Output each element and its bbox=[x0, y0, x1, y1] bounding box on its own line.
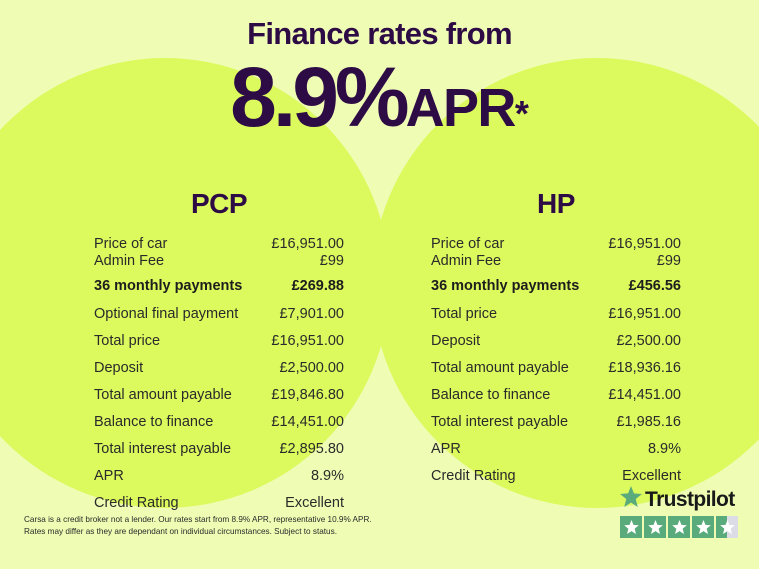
star-icon bbox=[668, 516, 690, 538]
table-row: Admin Fee £99 bbox=[431, 253, 681, 269]
table-row: Balance to finance £14,451.00 bbox=[431, 387, 681, 403]
headline-rate-value: 8.9% bbox=[230, 50, 405, 144]
star-icon bbox=[620, 486, 642, 512]
row-label: Admin Fee bbox=[431, 253, 501, 269]
star-half-icon bbox=[716, 516, 738, 538]
table-row: Price of car £16,951.00 bbox=[431, 236, 681, 252]
table-row: Price of car £16,951.00 bbox=[94, 236, 344, 252]
row-label: Credit Rating bbox=[431, 468, 516, 484]
trustpilot-stars bbox=[620, 516, 744, 538]
table-row: Total amount payable £19,846.80 bbox=[94, 387, 344, 403]
row-value: 8.9% bbox=[311, 468, 344, 484]
row-value: £16,951.00 bbox=[271, 333, 344, 349]
row-value: Excellent bbox=[622, 468, 681, 484]
row-value: Excellent bbox=[285, 495, 344, 511]
trustpilot-wordmark: Trustpilot bbox=[620, 487, 744, 511]
row-label: Price of car bbox=[431, 236, 504, 252]
row-value: £16,951.00 bbox=[608, 306, 681, 322]
row-label: APR bbox=[431, 441, 461, 457]
row-label: Balance to finance bbox=[94, 414, 213, 430]
table-row: Optional final payment £7,901.00 bbox=[94, 306, 344, 322]
row-label: Admin Fee bbox=[94, 253, 164, 269]
table-row: Deposit £2,500.00 bbox=[94, 360, 344, 376]
table-row: APR 8.9% bbox=[94, 468, 344, 484]
table-row: Credit Rating Excellent bbox=[431, 468, 681, 484]
row-label: APR bbox=[94, 468, 124, 484]
row-value: £14,451.00 bbox=[608, 387, 681, 403]
star-icon bbox=[620, 516, 642, 538]
headline-apr-label: APR bbox=[406, 78, 515, 138]
row-value: £2,895.80 bbox=[279, 441, 344, 457]
table-row: APR 8.9% bbox=[431, 441, 681, 457]
disclaimer-line-2: Rates may differ as they are dependant o… bbox=[24, 526, 424, 538]
row-label: 36 monthly payments bbox=[431, 278, 579, 294]
headline-block: Finance rates from 8.9%APR* bbox=[0, 18, 759, 139]
plan-rows-pcp: Price of car £16,951.00 Admin Fee £99 36… bbox=[94, 236, 344, 511]
row-value: £2,500.00 bbox=[279, 360, 344, 376]
row-label: Total interest payable bbox=[431, 414, 568, 430]
row-value: 8.9% bbox=[648, 441, 681, 457]
row-label: Total price bbox=[431, 306, 497, 322]
table-row: Total price £16,951.00 bbox=[431, 306, 681, 322]
row-label: 36 monthly payments bbox=[94, 278, 242, 294]
row-label: Credit Rating bbox=[94, 495, 179, 511]
plan-card-pcp: PCP Price of car £16,951.00 Admin Fee £9… bbox=[94, 190, 344, 522]
row-label: Deposit bbox=[94, 360, 143, 376]
row-label: Total amount payable bbox=[94, 387, 232, 403]
row-value: £1,985.16 bbox=[616, 414, 681, 430]
row-label: Deposit bbox=[431, 333, 480, 349]
star-icon bbox=[644, 516, 666, 538]
page-title: Finance rates from bbox=[0, 18, 759, 49]
row-value: £99 bbox=[657, 253, 681, 269]
table-row: Total price £16,951.00 bbox=[94, 333, 344, 349]
table-row-monthly-payment: 36 monthly payments £269.88 bbox=[94, 278, 344, 294]
row-label: Total price bbox=[94, 333, 160, 349]
plan-title-hp: HP bbox=[431, 190, 681, 218]
disclaimer-line-1: Carsa is a credit broker not a lender. O… bbox=[24, 514, 424, 526]
row-label: Price of car bbox=[94, 236, 167, 252]
trustpilot-name: Trustpilot bbox=[645, 489, 735, 510]
poster-content: Finance rates from 8.9%APR* PCP Price of… bbox=[0, 0, 759, 569]
table-row: Admin Fee £99 bbox=[94, 253, 344, 269]
row-label: Total interest payable bbox=[94, 441, 231, 457]
table-row: Credit Rating Excellent bbox=[94, 495, 344, 511]
row-value: £16,951.00 bbox=[271, 236, 344, 252]
table-row: Deposit £2,500.00 bbox=[431, 333, 681, 349]
headline-asterisk: * bbox=[515, 93, 529, 134]
row-value: £19,846.80 bbox=[271, 387, 344, 403]
table-row: Total amount payable £18,936.16 bbox=[431, 360, 681, 376]
row-label: Balance to finance bbox=[431, 387, 550, 403]
headline-rate-row: 8.9%APR* bbox=[0, 55, 759, 139]
table-row: Balance to finance £14,451.00 bbox=[94, 414, 344, 430]
row-label: Total amount payable bbox=[431, 360, 569, 376]
plan-title-pcp: PCP bbox=[94, 190, 344, 218]
row-label: Optional final payment bbox=[94, 306, 238, 322]
row-value: £14,451.00 bbox=[271, 414, 344, 430]
table-row: Total interest payable £1,985.16 bbox=[431, 414, 681, 430]
row-value: £2,500.00 bbox=[616, 333, 681, 349]
finance-rates-poster: Finance rates from 8.9%APR* PCP Price of… bbox=[0, 0, 759, 569]
row-value: £16,951.00 bbox=[608, 236, 681, 252]
row-value: £99 bbox=[320, 253, 344, 269]
plan-card-hp: HP Price of car £16,951.00 Admin Fee £99… bbox=[431, 190, 681, 495]
table-row: Total interest payable £2,895.80 bbox=[94, 441, 344, 457]
table-row-monthly-payment: 36 monthly payments £456.56 bbox=[431, 278, 681, 294]
star-icon bbox=[692, 516, 714, 538]
row-value: £456.56 bbox=[629, 278, 681, 294]
trustpilot-rating[interactable]: Trustpilot bbox=[620, 487, 744, 538]
row-value: £18,936.16 bbox=[608, 360, 681, 376]
plan-rows-hp: Price of car £16,951.00 Admin Fee £99 36… bbox=[431, 236, 681, 484]
row-value: £269.88 bbox=[292, 278, 344, 294]
row-value: £7,901.00 bbox=[279, 306, 344, 322]
disclaimer: Carsa is a credit broker not a lender. O… bbox=[24, 514, 424, 537]
